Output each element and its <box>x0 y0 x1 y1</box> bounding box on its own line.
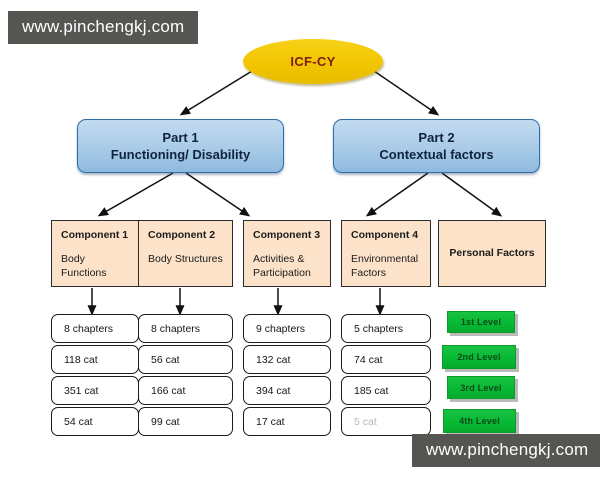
detail-c1-r1[interactable]: 8 chapters <box>51 314 139 343</box>
detail-c4-r4[interactable]: 5 cat <box>341 407 431 436</box>
personal-factors-title: Personal Factors <box>449 247 534 260</box>
edge-part1-to-component12 <box>100 173 173 215</box>
diagram-canvas: ICF-CY Part 1 Functioning/ Disability Pa… <box>0 0 600 480</box>
level-2-box[interactable]: 2nd Level <box>442 345 516 369</box>
detail-c1-r2[interactable]: 118 cat <box>51 345 139 374</box>
component-2-desc: Body Structures <box>148 252 223 266</box>
level-4-box[interactable]: 4th Level <box>443 409 516 433</box>
component-1-title: Component 1 <box>61 229 129 242</box>
personal-factors-box[interactable]: Personal Factors <box>438 220 546 287</box>
component-4-desc: Environmental Factors <box>351 252 421 280</box>
detail-c3-r4[interactable]: 17 cat <box>243 407 331 436</box>
part-1-subtitle: Functioning/ Disability <box>111 146 250 163</box>
level-1-box[interactable]: 1st Level <box>447 311 515 333</box>
part-2-title: Part 2 <box>418 129 454 146</box>
component-3-desc: Activities & Participation <box>253 252 321 280</box>
detail-c3-r3[interactable]: 394 cat <box>243 376 331 405</box>
edge-part1-to-component3 <box>186 173 248 215</box>
detail-c4-r1[interactable]: 5 chapters <box>341 314 431 343</box>
watermark-top: www.pinchengkj.com <box>8 11 198 44</box>
watermark-bottom: www.pinchengkj.com <box>412 434 600 467</box>
part-2-box[interactable]: Part 2 Contextual factors <box>333 119 540 173</box>
component-3-box[interactable]: Component 3 Activities & Participation <box>243 220 331 287</box>
component-4-title: Component 4 <box>351 229 421 242</box>
edge-part2-to-personal <box>442 173 500 215</box>
detail-c3-r2[interactable]: 132 cat <box>243 345 331 374</box>
detail-c1-r3[interactable]: 351 cat <box>51 376 139 405</box>
detail-c2-r4[interactable]: 99 cat <box>138 407 233 436</box>
level-3-box[interactable]: 3rd Level <box>447 376 515 399</box>
detail-c3-r1[interactable]: 9 chapters <box>243 314 331 343</box>
root-node-icf-cy[interactable]: ICF-CY <box>243 39 383 84</box>
detail-c1-r4[interactable]: 54 cat <box>51 407 139 436</box>
component-1-desc: Body Functions <box>61 252 129 280</box>
component-4-box[interactable]: Component 4 Environmental Factors <box>341 220 431 287</box>
detail-c2-r3[interactable]: 166 cat <box>138 376 233 405</box>
part-2-subtitle: Contextual factors <box>379 146 493 163</box>
root-node-label: ICF-CY <box>290 54 335 69</box>
part-1-title: Part 1 <box>162 129 198 146</box>
detail-c4-r2[interactable]: 74 cat <box>341 345 431 374</box>
component-2-box[interactable]: Component 2 Body Structures <box>138 220 233 287</box>
edge-part2-to-component4 <box>368 173 428 215</box>
detail-c2-r2[interactable]: 56 cat <box>138 345 233 374</box>
component-1-box[interactable]: Component 1 Body Functions <box>51 220 139 287</box>
part-1-box[interactable]: Part 1 Functioning/ Disability <box>77 119 284 173</box>
component-2-title: Component 2 <box>148 229 223 242</box>
detail-c2-r1[interactable]: 8 chapters <box>138 314 233 343</box>
edge-root-to-part2 <box>374 71 437 114</box>
detail-c4-r3[interactable]: 185 cat <box>341 376 431 405</box>
edge-root-to-part1 <box>182 71 252 114</box>
component-3-title: Component 3 <box>253 229 321 242</box>
